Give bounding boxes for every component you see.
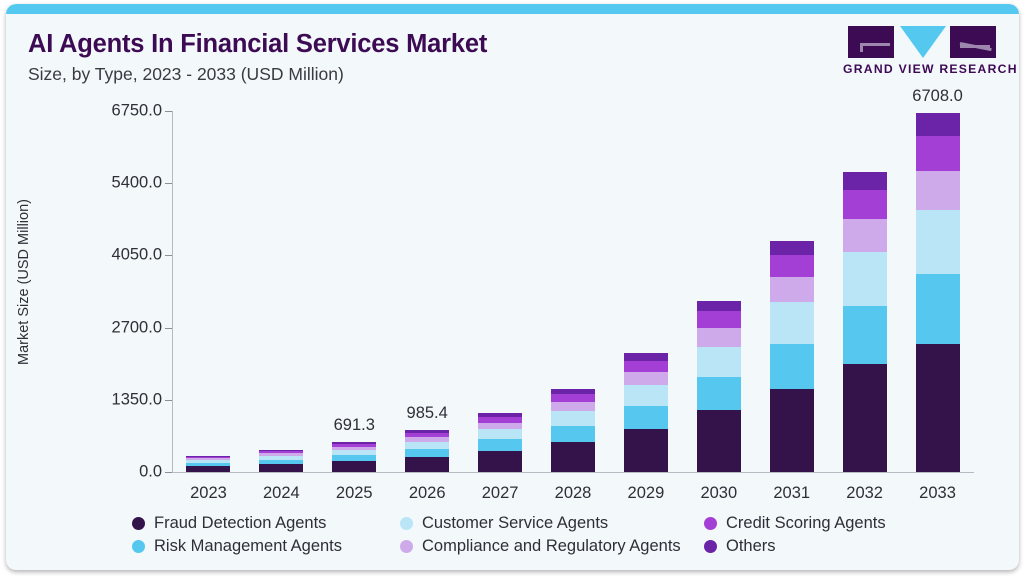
- bar-segment[interactable]: [332, 444, 376, 447]
- bar-group[interactable]: [186, 111, 230, 472]
- bar-segment[interactable]: [332, 447, 376, 450]
- bar-group[interactable]: [843, 111, 887, 472]
- y-axis-tick-label: 0.0: [52, 463, 162, 482]
- bar-segment[interactable]: [405, 437, 449, 441]
- bar-segment[interactable]: [916, 171, 960, 210]
- chart-legend: Fraud Detection AgentsCustomer Service A…: [132, 514, 1012, 566]
- bar-group[interactable]: [916, 111, 960, 472]
- bar-segment[interactable]: [697, 377, 741, 410]
- legend-swatch-icon: [132, 540, 145, 553]
- y-axis-tick-label: 6750.0: [52, 102, 162, 121]
- y-axis-tick-mark: [165, 400, 172, 401]
- x-axis-tick-label: 2025: [336, 484, 373, 503]
- bar-segment[interactable]: [478, 423, 522, 429]
- bar-segment[interactable]: [624, 406, 668, 429]
- y-axis-tick-mark: [165, 328, 172, 329]
- bar-segment[interactable]: [843, 364, 887, 472]
- x-axis-tick-label: 2024: [263, 484, 300, 503]
- bar-segment[interactable]: [186, 463, 230, 466]
- bar-segment[interactable]: [259, 451, 303, 453]
- y-axis-line: [172, 111, 173, 472]
- bar-segment[interactable]: [259, 460, 303, 464]
- legend-item-label: Risk Management Agents: [154, 537, 342, 556]
- bar-group[interactable]: [478, 111, 522, 472]
- bar-segment[interactable]: [259, 450, 303, 451]
- bar-value-label: 6708.0: [912, 87, 962, 106]
- bar-value-label: 985.4: [407, 404, 448, 423]
- bar-segment[interactable]: [405, 449, 449, 457]
- x-axis-tick-label: 2030: [700, 484, 737, 503]
- bar-segment[interactable]: [624, 385, 668, 406]
- x-axis-tick-label: 2023: [190, 484, 227, 503]
- bar-segment[interactable]: [405, 430, 449, 433]
- bar-segment[interactable]: [405, 457, 449, 472]
- bar-segment[interactable]: [551, 426, 595, 442]
- legend-item-label: Customer Service Agents: [422, 514, 608, 533]
- bar-segment[interactable]: [843, 306, 887, 364]
- bar-segment[interactable]: [405, 442, 449, 449]
- bar-segment[interactable]: [697, 347, 741, 378]
- bar-segment[interactable]: [624, 353, 668, 360]
- y-axis-tick-label: 4050.0: [52, 246, 162, 265]
- bar-segment[interactable]: [770, 277, 814, 302]
- chart-page: AI Agents In Financial Services Market S…: [0, 0, 1025, 576]
- legend-item[interactable]: Others: [704, 537, 776, 556]
- bar-segment[interactable]: [624, 361, 668, 373]
- legend-item[interactable]: Fraud Detection Agents: [132, 514, 326, 533]
- bar-segment[interactable]: [259, 456, 303, 460]
- bar-segment[interactable]: [843, 190, 887, 219]
- bar-segment[interactable]: [332, 450, 376, 455]
- bar-segment[interactable]: [916, 113, 960, 136]
- legend-item[interactable]: Compliance and Regulatory Agents: [400, 537, 681, 556]
- bar-segment[interactable]: [551, 394, 595, 402]
- x-axis-tick-label: 2032: [846, 484, 883, 503]
- y-axis-tick-label: 5400.0: [52, 174, 162, 193]
- bar-segment[interactable]: [478, 413, 522, 417]
- bar-segment[interactable]: [551, 442, 595, 472]
- stacked-bar-chart: Market Size (USD Million)0.01350.02700.0…: [6, 4, 1019, 570]
- bar-segment[interactable]: [478, 429, 522, 439]
- bar-segment[interactable]: [770, 389, 814, 472]
- y-axis-tick-mark: [165, 472, 172, 473]
- y-axis-tick-label: 1350.0: [52, 390, 162, 409]
- chart-card: AI Agents In Financial Services Market S…: [6, 4, 1019, 570]
- bar-segment[interactable]: [770, 241, 814, 255]
- y-axis-tick-mark: [165, 111, 172, 112]
- bar-segment[interactable]: [186, 458, 230, 460]
- bar-segment[interactable]: [697, 410, 741, 472]
- bar-segment[interactable]: [551, 389, 595, 394]
- legend-item-label: Compliance and Regulatory Agents: [422, 537, 681, 556]
- legend-swatch-icon: [704, 517, 717, 530]
- y-axis-tick-label: 2700.0: [52, 318, 162, 337]
- x-axis-tick-label: 2026: [409, 484, 446, 503]
- bar-segment[interactable]: [843, 252, 887, 306]
- bar-group[interactable]: [624, 111, 668, 472]
- bar-group[interactable]: [697, 111, 741, 472]
- bar-group[interactable]: [259, 111, 303, 472]
- legend-swatch-icon: [704, 540, 717, 553]
- bar-segment[interactable]: [697, 301, 741, 311]
- bar-segment[interactable]: [259, 453, 303, 455]
- x-axis-tick-label: 2027: [482, 484, 519, 503]
- legend-item-label: Others: [726, 537, 776, 556]
- bar-segment[interactable]: [551, 411, 595, 426]
- y-axis-tick-mark: [165, 255, 172, 256]
- bar-segment[interactable]: [186, 457, 230, 459]
- bar-segment[interactable]: [843, 172, 887, 190]
- bar-segment[interactable]: [916, 136, 960, 171]
- legend-swatch-icon: [132, 517, 145, 530]
- bar-group[interactable]: [551, 111, 595, 472]
- bar-value-label: 691.3: [334, 416, 375, 435]
- bar-segment[interactable]: [186, 466, 230, 472]
- x-axis-tick-label: 2028: [555, 484, 592, 503]
- bar-segment[interactable]: [916, 274, 960, 344]
- bar-segment[interactable]: [478, 439, 522, 450]
- bar-segment[interactable]: [186, 460, 230, 463]
- bar-segment[interactable]: [478, 451, 522, 472]
- bar-segment[interactable]: [916, 344, 960, 472]
- legend-item-label: Fraud Detection Agents: [154, 514, 326, 533]
- x-axis-tick-label: 2029: [628, 484, 665, 503]
- legend-item[interactable]: Credit Scoring Agents: [704, 514, 886, 533]
- bar-segment[interactable]: [916, 210, 960, 274]
- bar-segment[interactable]: [697, 311, 741, 328]
- bar-segment[interactable]: [770, 255, 814, 278]
- x-axis-tick-label: 2031: [773, 484, 810, 503]
- bar-segment[interactable]: [332, 442, 376, 444]
- bar-segment[interactable]: [624, 372, 668, 385]
- legend-swatch-icon: [400, 540, 413, 553]
- bar-segment[interactable]: [405, 433, 449, 437]
- bar-segment[interactable]: [697, 328, 741, 346]
- x-axis-line: [172, 472, 974, 473]
- bar-segment[interactable]: [332, 461, 376, 472]
- legend-item[interactable]: Risk Management Agents: [132, 537, 342, 556]
- bar-segment[interactable]: [770, 344, 814, 389]
- bar-segment[interactable]: [332, 455, 376, 461]
- y-axis-tick-mark: [165, 183, 172, 184]
- bar-segment[interactable]: [186, 456, 230, 457]
- legend-item[interactable]: Customer Service Agents: [400, 514, 608, 533]
- bar-segment[interactable]: [624, 429, 668, 472]
- y-axis-title: Market Size (USD Million): [16, 172, 32, 392]
- x-axis-tick-label: 2033: [919, 484, 956, 503]
- bar-group[interactable]: [770, 111, 814, 472]
- bar-segment[interactable]: [843, 219, 887, 251]
- bar-segment[interactable]: [259, 464, 303, 472]
- bar-segment[interactable]: [770, 302, 814, 344]
- legend-swatch-icon: [400, 517, 413, 530]
- bar-segment[interactable]: [478, 417, 522, 423]
- bar-segment[interactable]: [551, 402, 595, 411]
- legend-item-label: Credit Scoring Agents: [726, 514, 886, 533]
